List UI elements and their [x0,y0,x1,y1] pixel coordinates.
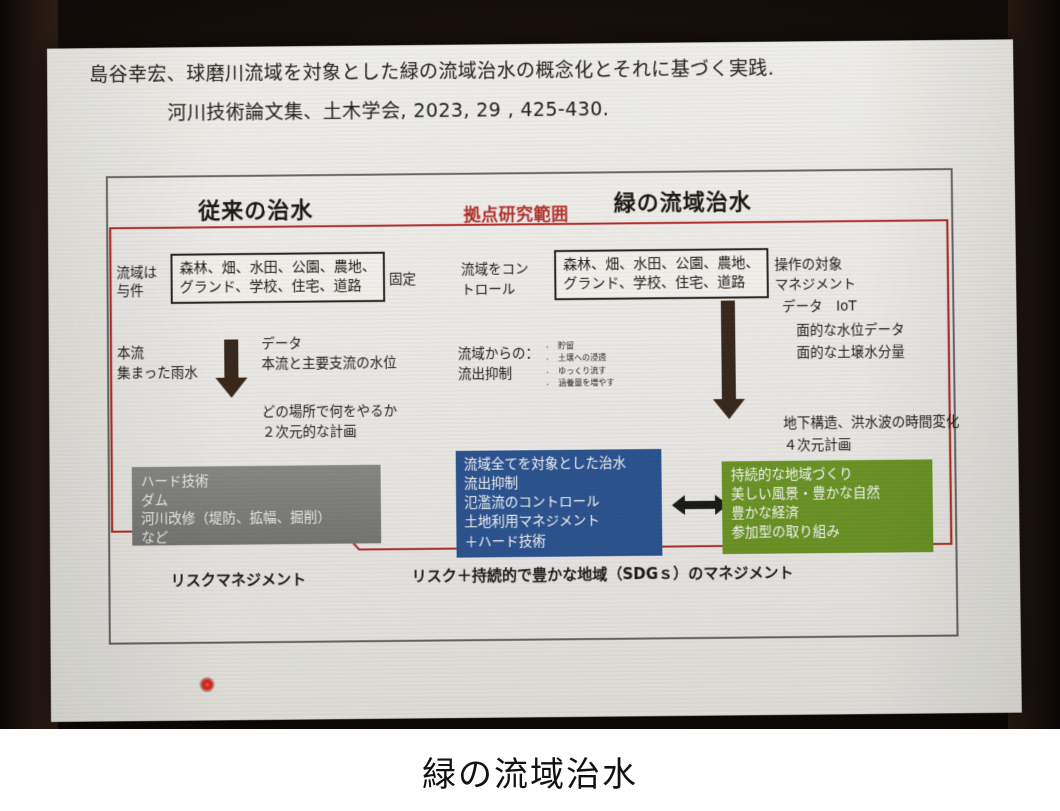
green-line-3: 参加型の取り組み [731,522,924,543]
left-mainstream-line1: 本流 [117,344,144,363]
bullet-dot-0: · [546,342,549,354]
left-watershed-label-line1: 流域は [116,264,157,283]
watershed-wide-flood-control-box: 流域全てを対象とした治水 流出抑制 氾濫流のコントロール 土地利用マネジメント … [456,449,663,558]
left-landuse-line-1: 森林、畑、水田、公園、農地、 [179,258,375,279]
runoff-sub-1: 土壌への浸透 [558,352,614,365]
right-data-line-1: 面的な水位データ [796,321,904,340]
right-runoff-line2: 流出抑制 [458,365,512,384]
laser-pointer-dot [199,677,214,692]
bidirectional-arrow-icon [672,492,728,519]
hard-tech-line-3: など [141,527,372,548]
right-data-line-2: 面的な土壌水分量 [796,343,904,362]
left-data-line-1: 本流と主要支流の水位 [261,354,396,374]
hard-technology-box: ハード技術 ダム 河川改修（堤防、拡幅、掘削） など [132,465,381,546]
right-landuse-box: 森林、畑、水田、公園、農地、 グランド、学校、住宅、道路 [554,248,769,300]
left-mainstream-line2: 集まった雨水 [117,364,198,383]
right-risk-management-caption: リスク＋持続的で豊かな地域（SDGｓ）のマネジメント [412,561,794,586]
sustainable-community-box: 持続的な地域づくり 美しい風景・豊かな自然 豊かな経済 参加型の取り組み [722,459,934,554]
green-line-1: 美しい風景・豊かな自然 [731,484,924,505]
label-research-scope: 拠点研究範囲 [463,200,568,226]
blue-line-4: ＋ハード技術 [464,531,654,552]
right-runoff-bullets: · · · · [546,342,549,392]
blue-line-1: 流出抑制 [464,473,654,494]
citation-block: 島谷幸宏、球磨川流域を対象とした緑の流域治水の概念化とそれに基づく実践. 河川技… [89,52,970,126]
right-control-line2: トロール [461,281,515,300]
right-plan-line-2: ４次元計画 [784,436,852,455]
citation-line-1: 島谷幸宏、球磨川流域を対象とした緑の流域治水の概念化とそれに基づく実践. [89,52,969,87]
runoff-sub-3: 涵養量を増やす [558,377,614,390]
bullet-dot-2: · [546,367,549,379]
blue-line-3: 土地利用マネジメント [464,512,654,533]
blue-line-2: 氾濫流のコントロール [464,493,654,514]
left-fixed-label: 固定 [389,270,416,289]
left-landuse-box: 森林、畑、水田、公園、農地、 グランド、学校、住宅、道路 [170,252,385,304]
caption-strip: 緑の流域治水 [0,729,1060,811]
citation-line-2: 河川技術論文集、土木学会, 2023, 29 , 425-430. [89,91,970,126]
slide-surface: 島谷幸宏、球磨川流域を対象とした緑の流域治水の概念化とそれに基づく実践. 河川技… [47,39,1022,722]
hard-tech-line-0: ハード技術 [141,471,372,492]
heading-conventional-flood-control: 従来の治水 [198,192,313,225]
right-landuse-line-1: 森林、畑、水田、公園、農地、 [563,254,760,275]
green-line-0: 持続的な地域づくり [731,465,924,486]
bullet-dot-1: · [546,355,549,367]
right-plan-line-1: 地下構造、洪水波の時間変化 [783,413,959,433]
diagram-frame: 従来の治水 緑の流域治水 拠点研究範囲 流域は 与件 森林、畑、水田、公園、農地… [106,168,959,645]
hard-tech-line-1: ダム [141,490,372,511]
runoff-sub-0: 貯留 [558,340,614,353]
right-target-line2: マネジメント [775,275,856,294]
right-runoff-sublist: 貯留 土壌への浸透 ゆっくり流す 涵養量を増やす [558,340,615,390]
left-plan-line-1: どの場所で何をやるか [262,402,398,422]
left-plan-line-2: ２次元的な計画 [262,423,357,442]
green-line-2: 豊かな経済 [731,503,924,524]
left-data-title: データ [261,335,302,354]
right-target-line1: 操作の対象 [774,255,842,274]
projected-slide-photo: 島谷幸宏、球磨川流域を対象とした緑の流域治水の概念化とそれに基づく実践. 河川技… [0,0,1060,729]
bullet-dot-3: · [546,380,549,392]
left-landuse-line-2: グランド、学校、住宅、道路 [180,277,376,298]
runoff-sub-2: ゆっくり流す [558,365,614,378]
left-risk-management-caption: リスクマネジメント [171,568,307,590]
left-watershed-label-line2: 与件 [117,282,144,301]
heading-green-watershed-flood-control: 緑の流域治水 [613,184,752,217]
hard-tech-line-2: 河川改修（堤防、拡幅、掘削） [141,508,372,529]
right-control-line1: 流域をコン [461,260,529,279]
blue-line-0: 流域全てを対象とした治水 [464,454,654,475]
right-runoff-line1: 流域からの： [458,345,539,364]
right-landuse-line-2: グランド、学校、住宅、道路 [563,273,760,294]
figure-caption: 緑の流域治水 [0,747,1060,796]
right-data-title: データ IoT [782,297,857,316]
